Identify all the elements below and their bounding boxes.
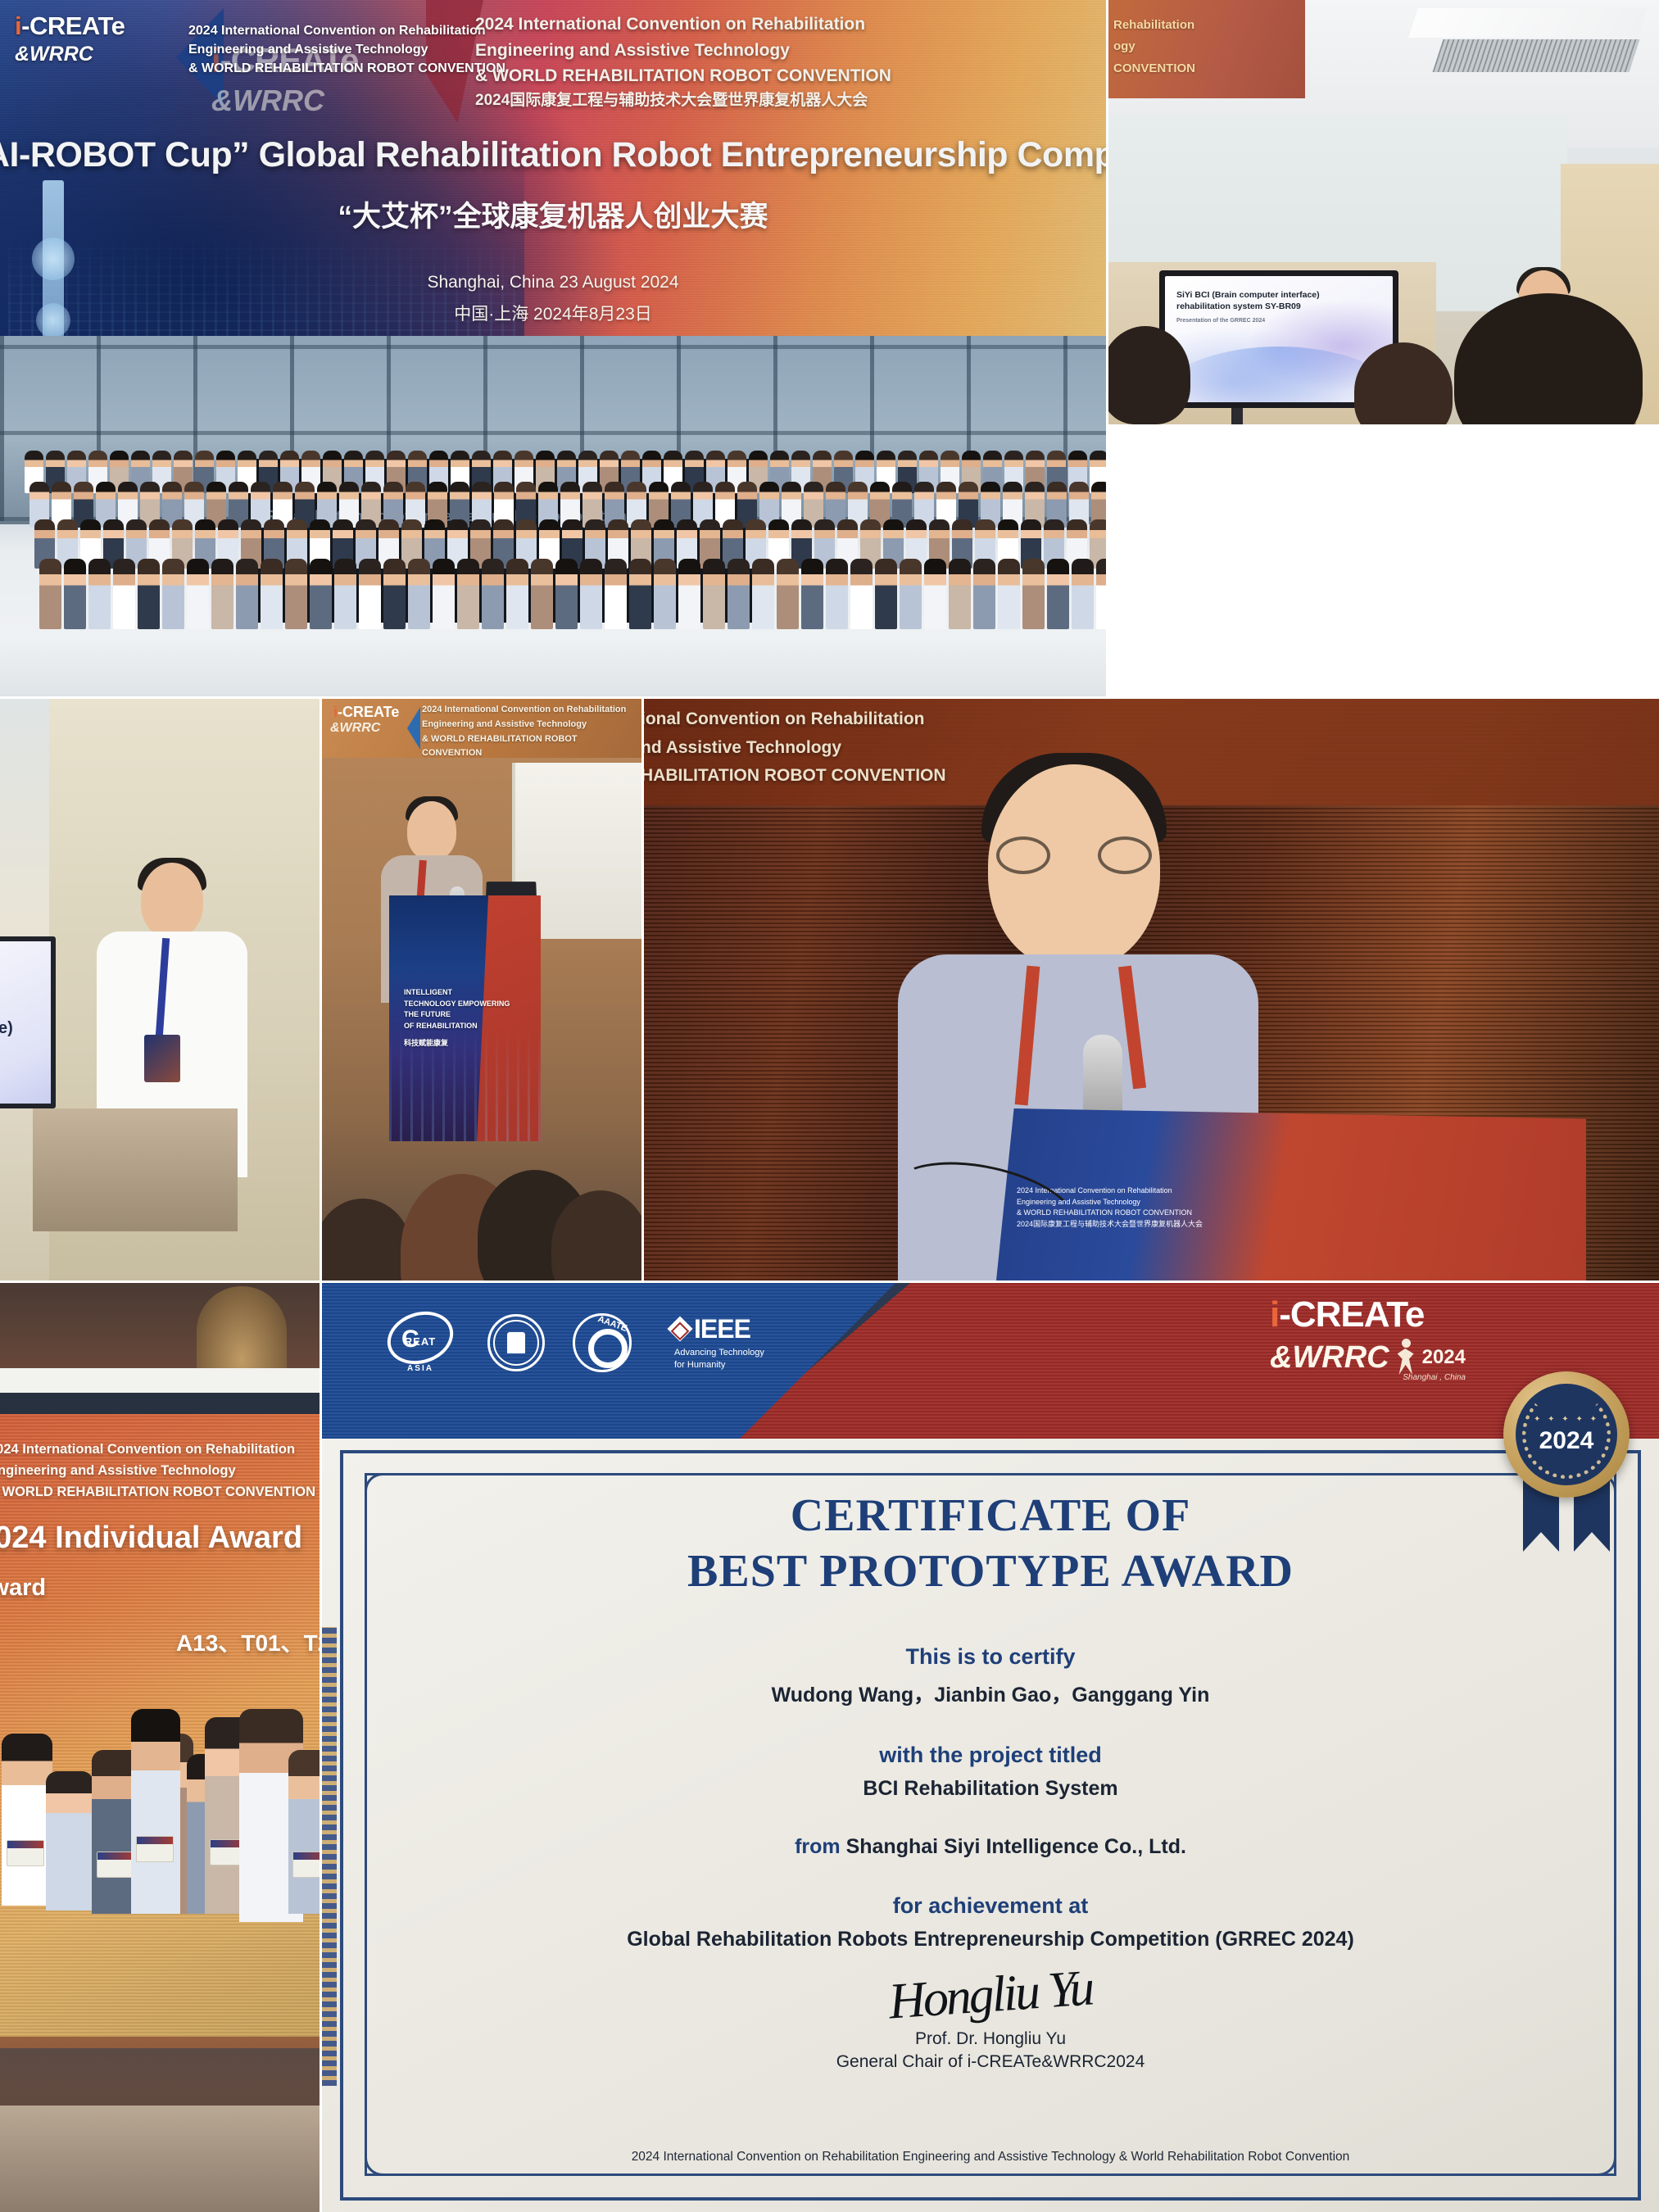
- photo-collage: i-CREATe &WRRC i-CREATe &WRRC 2024 Inter…: [0, 0, 1659, 2212]
- frame-corner-top-left: [365, 1473, 407, 1516]
- banner-line-3: & WORLD REHABILITATION ROBOT CONVENTION: [422, 732, 639, 762]
- projection-surface: e): [0, 941, 51, 1104]
- certificate-content: CERTIFICATE OF BEST PROTOTYPE AWARD This…: [412, 1488, 1569, 2072]
- person-figure: [88, 559, 111, 629]
- person-figure: [334, 559, 356, 629]
- certify-label: This is to certify: [412, 1644, 1569, 1670]
- person-figure: [359, 559, 381, 629]
- aaate-logo: AAATE: [573, 1313, 632, 1372]
- slide-title: SiYi BCI (Brain computer interface) reha…: [1176, 289, 1381, 312]
- award-banner-line-3: & WORLD REHABILITATION ROBOT CONVENTION: [0, 1481, 320, 1503]
- logo-i-mark-4: i: [1270, 1294, 1279, 1335]
- person-figure: [875, 559, 897, 629]
- banner-right-line-2: nd Assistive Technology: [644, 734, 1231, 763]
- group-photo-people: [25, 451, 1081, 655]
- panel-talk-left: e): [0, 699, 320, 1281]
- held-certificate: [292, 1852, 320, 1878]
- podium-slogan-line-2: TECHNOLOGY EMPOWERING: [404, 999, 510, 1010]
- audience-head: [322, 1199, 412, 1281]
- person-figure: [506, 559, 528, 629]
- banner-logo-icreate: i-CREATe: [333, 704, 399, 721]
- from-label: from: [795, 1835, 841, 1858]
- person-figure: [703, 559, 725, 629]
- hall-floor: [0, 2105, 320, 2212]
- wall-banner-line-2: ogy: [1113, 36, 1305, 57]
- person-figure: [457, 559, 479, 629]
- organization-name: Shanghai Siyi Intelligence Co., Ltd.: [846, 1835, 1186, 1858]
- brand-create-text: -CREATe: [1279, 1294, 1424, 1335]
- backdrop-location-cn: 中国·上海 2024年8月23日: [0, 299, 1106, 331]
- person-figure: [383, 559, 406, 629]
- panel-talk-right: ional Convention on Rehabilitation nd As…: [644, 699, 1659, 1281]
- award-winner-figure: [288, 1750, 320, 1914]
- speaker-head: [407, 801, 456, 860]
- wall-banner-line-3: CONVENTION: [1113, 58, 1305, 79]
- award-winner-figure: [131, 1709, 180, 1914]
- podium-slogan-line-3: THE FUTURE: [404, 1009, 510, 1021]
- backdrop-header-chinese: 2024国际康复工程与辅助技术大会暨世界康复机器人大会: [475, 89, 1065, 113]
- backdrop-main-title: “AI-ROBOT Cup” Global Rehabilitation Rob…: [0, 135, 1106, 175]
- ieee-logo: IEEE Advancing Technology for Humanity: [671, 1314, 764, 1372]
- person-figure: [752, 559, 774, 629]
- person-figure: [998, 559, 1020, 629]
- achievement-label: for achievement at: [412, 1893, 1569, 1919]
- panel-presentation-room: Rehabilitation ogy CONVENTION SiYi BCI (…: [1108, 0, 1659, 424]
- backdrop-location-en: Shanghai, China 23 August 2024: [0, 267, 1106, 299]
- banner-chevron-icon: [407, 707, 420, 750]
- person-figure: [826, 559, 848, 629]
- logo-create-text: -CREATe: [21, 11, 125, 40]
- podium-slogan-line-1: INTELLIGENT: [404, 987, 510, 999]
- award-subline: Award: [0, 1575, 46, 1602]
- person-figure: [285, 559, 307, 629]
- ieee-tagline-line-2: for Humanity: [674, 1359, 764, 1371]
- project-block: with the project titled BCI Rehabilitati…: [412, 1743, 1569, 1801]
- person-figure: [433, 559, 455, 629]
- wall-banner-edge: Rehabilitation ogy CONVENTION: [1108, 0, 1305, 98]
- display-stand: [1231, 408, 1243, 424]
- speaker-podium: [33, 1108, 238, 1231]
- certificate-logo-row: C REAT ASIA AAATE IEEE Advancing Technol…: [381, 1312, 764, 1373]
- hall-ceiling: [0, 1283, 320, 1381]
- person-figure: [261, 559, 283, 629]
- eyeglasses-icon: [996, 836, 1152, 874]
- create-wordmark: REAT: [381, 1335, 460, 1348]
- runner-figure-icon: [1394, 1339, 1417, 1376]
- ceiling-light: [1408, 8, 1648, 38]
- backdrop-main-title-chinese: “大艾杯”全球康复机器人创业大赛: [0, 193, 1106, 235]
- backdrop-logo-icreate: i-CREATe &WRRC: [15, 11, 170, 66]
- logo-wrrc-text-3: &WRRC: [330, 721, 380, 735]
- medal-face: ✦ ✦ ✦ ✦ ✦ 2024: [1516, 1384, 1617, 1485]
- person-figure: [482, 559, 504, 629]
- ieee-diamond-icon: [667, 1317, 692, 1342]
- projection-text: e): [0, 941, 51, 1038]
- person-figure: [1072, 559, 1094, 629]
- held-certificate: [7, 1840, 44, 1866]
- logo-wrrc-text: &WRRC: [15, 43, 170, 66]
- person-figure: [580, 559, 602, 629]
- organization-line: from Shanghai Siyi Intelligence Co., Ltd…: [412, 1835, 1569, 1859]
- person-figure: [605, 559, 627, 629]
- certificate-title-line-2: BEST PROTOTYPE AWARD: [412, 1543, 1569, 1599]
- ieee-tagline: Advancing Technology for Humanity: [674, 1347, 764, 1372]
- ceiling-vent: [1433, 39, 1640, 72]
- audience-head: [1108, 326, 1190, 424]
- award-banner-text: 2024 International Convention on Rehabil…: [0, 1439, 320, 1503]
- speaker-badge: [144, 1035, 180, 1082]
- panel-certificate: C REAT ASIA AAATE IEEE Advancing Technol…: [322, 1283, 1659, 2212]
- person-figure: [408, 559, 430, 629]
- banner-logo-wrrc: &WRRC: [330, 721, 380, 736]
- venue-steps: [0, 639, 1106, 696]
- backdrop-header-line-1: 2024 International Convention on Rehabil…: [475, 11, 1065, 38]
- panel-group-photo: Rehabilitation Robot Entrepreneurship Co…: [0, 336, 1106, 696]
- banner-text-block: 2024 International Convention on Rehabil…: [422, 703, 639, 761]
- certificate-footer: 2024 International Convention on Rehabil…: [322, 2150, 1659, 2164]
- hall-ornament: [197, 1286, 287, 1368]
- backdrop-header-block: 2024 International Convention on Rehabil…: [475, 11, 1065, 112]
- certificate-title: CERTIFICATE OF BEST PROTOTYPE AWARD: [412, 1488, 1569, 1600]
- logo-create-text-3: -CREATe: [338, 704, 399, 720]
- certificate-event-brand: i-CREATe &WRRC 2024 Shanghai , China: [1270, 1294, 1466, 1382]
- banner-line-2: Engineering and Assistive Technology: [422, 718, 639, 732]
- brand-icreate: i-CREATe: [1270, 1294, 1466, 1335]
- person-figure: [39, 559, 61, 629]
- wall-banner-line-1: Rehabilitation: [1113, 15, 1305, 36]
- certificate-left-edge-ribbon: [322, 1627, 337, 2086]
- hall-dark-band: [0, 1393, 320, 1414]
- brand-wrrc-text: &WRRC: [1270, 1340, 1389, 1376]
- ieee-tagline-line-1: Advancing Technology: [674, 1347, 764, 1359]
- held-certificate: [97, 1852, 134, 1878]
- person-figure: [1022, 559, 1045, 629]
- person-figure: [801, 559, 823, 629]
- laurel-wreath-icon: [1522, 1390, 1611, 1479]
- person-figure: [162, 559, 184, 629]
- person-figure: [777, 559, 799, 629]
- person-figure: [138, 559, 160, 629]
- backdrop-location-block: Shanghai, China 23 August 2024 中国·上海 202…: [0, 267, 1106, 331]
- backdrop-header-line-2: Engineering and Assistive Technology: [475, 38, 1065, 64]
- podium-slogan: INTELLIGENT TECHNOLOGY EMPOWERING THE FU…: [404, 987, 510, 1049]
- person-figure: [654, 559, 676, 629]
- person-figure: [531, 559, 553, 629]
- person-figure: [64, 559, 86, 629]
- glasses-lens-left: [996, 836, 1050, 874]
- person-figure: [728, 559, 750, 629]
- person-figure: [900, 559, 922, 629]
- audience-group: [322, 1104, 641, 1281]
- certificate-title-line-1: CERTIFICATE OF: [412, 1488, 1569, 1543]
- person-figure: [678, 559, 700, 629]
- person-figure: [850, 559, 873, 629]
- podium-slogan-chinese: 科技赋能康复: [404, 1038, 510, 1049]
- glasses-lens-right: [1098, 836, 1152, 874]
- certificate-header: C REAT ASIA AAATE IEEE Advancing Technol…: [322, 1283, 1659, 1444]
- panel-award-ceremony: 2024 International Convention on Rehabil…: [0, 1283, 320, 2212]
- person-figure: [949, 559, 971, 629]
- award-headline: 2024 Individual Award: [0, 1521, 302, 1556]
- award-banner-line-1: 2024 International Convention on Rehabil…: [0, 1439, 320, 1460]
- slide-title-line-1: SiYi BCI (Brain computer interface): [1176, 289, 1381, 301]
- award-winner-figure: [2, 1734, 52, 1906]
- brand-year: 2024: [1422, 1346, 1466, 1369]
- signer-role: General Chair of i-CREATe&WRRC2024: [412, 2052, 1569, 2072]
- slide-title-line-2: rehabilitation system SY-BR09: [1176, 301, 1381, 312]
- panel-talk-middle: i-CREATe &WRRC 2024 International Conven…: [322, 699, 641, 1281]
- person-figure: [629, 559, 651, 629]
- backdrop-header-line-3: & WORLD REHABILITATION ROBOT CONVENTION: [475, 63, 1065, 89]
- held-certificate: [136, 1836, 174, 1862]
- person-figure: [555, 559, 578, 629]
- medal-disc: ✦ ✦ ✦ ✦ ✦ 2024: [1503, 1371, 1630, 1498]
- wall-banner-text: Rehabilitation ogy CONVENTION: [1108, 0, 1305, 79]
- person-figure: [1047, 559, 1069, 629]
- award-banner-line-2: Engineering and Assistive Technology: [0, 1460, 320, 1481]
- group-photo-row: [39, 559, 1106, 629]
- certificate-body: CERTIFICATE OF BEST PROTOTYPE AWARD This…: [322, 1439, 1659, 2212]
- ieee-wordmark: IEEE: [694, 1314, 750, 1344]
- recipient-names: Wudong Wang，Jianbin Gao，Ganggang Yin: [412, 1679, 1569, 1708]
- person-figure: [113, 559, 135, 629]
- banner-line-1: 2024 International Convention on Rehabil…: [422, 703, 639, 718]
- person-figure: [1096, 559, 1106, 629]
- award-winner-figure: [46, 1771, 93, 1911]
- award-winners-row: [0, 1611, 320, 2119]
- person-figure: [236, 559, 258, 629]
- person-figure: [187, 559, 209, 629]
- person-figure: [310, 559, 332, 629]
- aaate-wordmark: AAATE: [596, 1314, 628, 1334]
- person-figure: [973, 559, 995, 629]
- banner-right-line-1: ional Convention on Rehabilitation: [644, 705, 1231, 734]
- projection-screen: e): [0, 936, 56, 1108]
- room-banner: i-CREATe &WRRC 2024 International Conven…: [322, 699, 641, 758]
- ieee-logo-row: IEEE: [671, 1314, 764, 1344]
- seal-inner-mark: [507, 1332, 525, 1353]
- project-value: BCI Rehabilitation System: [412, 1777, 1569, 1801]
- person-figure: [211, 559, 233, 629]
- award-medal-seal: ✦ ✦ ✦ ✦ ✦ 2024: [1503, 1371, 1630, 1498]
- slide-subtitle: Presentation of the GRREC 2024: [1176, 318, 1381, 324]
- project-label: with the project titled: [412, 1743, 1569, 1768]
- speaker-head: [141, 863, 203, 938]
- hall-white-band: [0, 1368, 320, 1393]
- brand-wrrc-row: &WRRC 2024: [1270, 1339, 1466, 1376]
- logo-i-mark: i: [15, 11, 21, 40]
- university-seal-logo: [487, 1314, 545, 1371]
- create-asia-logo: C REAT ASIA: [381, 1312, 460, 1373]
- person-figure: [924, 559, 946, 629]
- create-asia-label: ASIA: [381, 1364, 460, 1373]
- logo-wrrc-text-2: &WRRC: [211, 84, 490, 118]
- podium-slogan-line-4: OF REHABILITATION: [404, 1021, 510, 1032]
